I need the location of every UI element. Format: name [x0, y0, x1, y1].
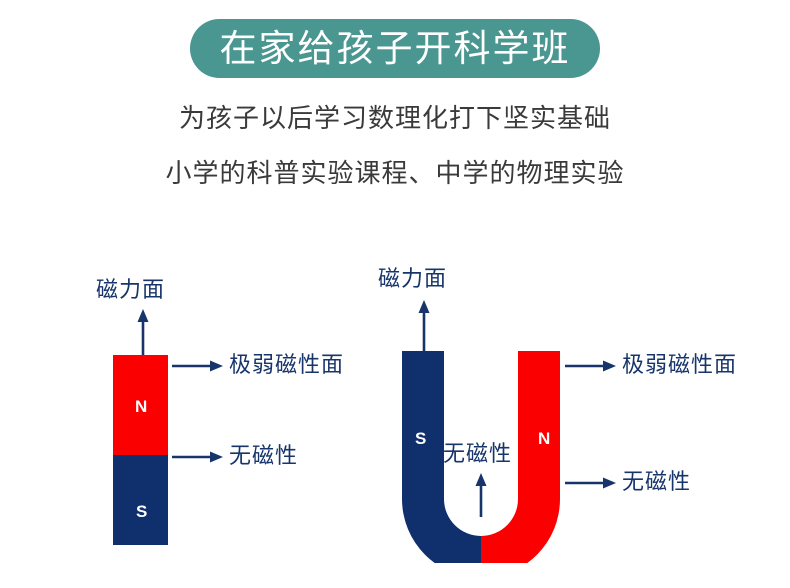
- u-magnet-lower-right-label: 无磁性: [622, 471, 691, 493]
- page-root: 在家给孩子开科学班 为孩子以后学习数理化打下坚实基础 小学的科普实验课程、中学的…: [0, 0, 790, 588]
- bar-magnet-top-label: 磁力面: [96, 279, 165, 301]
- u-magnet-upper-right-label: 极弱磁性面: [622, 354, 737, 376]
- bar-magnet-lower-right-arrow-icon: [172, 448, 224, 466]
- subtitle-line-2: 小学的科普实验课程、中学的物理实验: [0, 160, 790, 186]
- bar-magnet-up-arrow-icon: [133, 308, 153, 358]
- u-magnet-south-letter: S: [415, 430, 426, 447]
- u-magnet-lower-right-arrow-icon: [565, 474, 617, 492]
- u-magnet-north-letter: N: [538, 430, 550, 447]
- u-magnet-top-label: 磁力面: [378, 268, 447, 290]
- bar-magnet-south-letter: S: [136, 503, 147, 520]
- bar-magnet-north-letter: N: [135, 398, 147, 415]
- page-title: 在家给孩子开科学班: [220, 30, 571, 67]
- bar-magnet-lower-right-label: 无磁性: [229, 445, 298, 467]
- u-magnet-inner-label: 无磁性: [443, 443, 512, 465]
- u-magnet-upper-right-arrow-icon: [565, 357, 617, 375]
- subtitle-line-1: 为孩子以后学习数理化打下坚实基础: [0, 105, 790, 131]
- bar-magnet-upper-right-label: 极弱磁性面: [229, 354, 344, 376]
- bar-magnet-upper-right-arrow-icon: [172, 357, 224, 375]
- page-title-pill: 在家给孩子开科学班: [190, 19, 600, 78]
- u-magnet-inner-up-arrow-icon: [471, 472, 491, 517]
- u-magnet-up-arrow-icon: [414, 299, 434, 351]
- bar-magnet-south-block: [113, 455, 168, 545]
